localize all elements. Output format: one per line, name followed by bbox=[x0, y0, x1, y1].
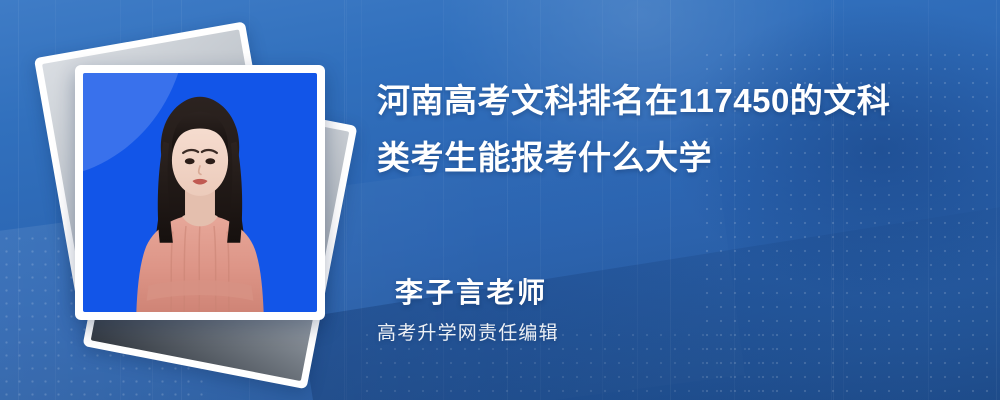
photo-card-main bbox=[75, 65, 325, 320]
author-name: 李子言老师 bbox=[395, 271, 548, 311]
banner-text-column: 河南高考文科排名在117450的文科 类考生能报考什么大学 李子言老师 高考升学… bbox=[377, 0, 977, 400]
portrait-illustration bbox=[83, 73, 317, 312]
photo-card-stack bbox=[40, 30, 350, 370]
author-role: 高考升学网责任编辑 bbox=[377, 318, 559, 345]
page-title: 河南高考文科排名在117450的文科 类考生能报考什么大学 bbox=[377, 72, 967, 186]
page-title-line-2: 类考生能报考什么大学 bbox=[377, 129, 967, 186]
author-portrait-photo bbox=[83, 73, 317, 312]
article-cover-banner: 河南高考文科排名在117450的文科 类考生能报考什么大学 李子言老师 高考升学… bbox=[0, 0, 1000, 400]
page-title-line-1: 河南高考文科排名在117450的文科 bbox=[377, 72, 967, 129]
